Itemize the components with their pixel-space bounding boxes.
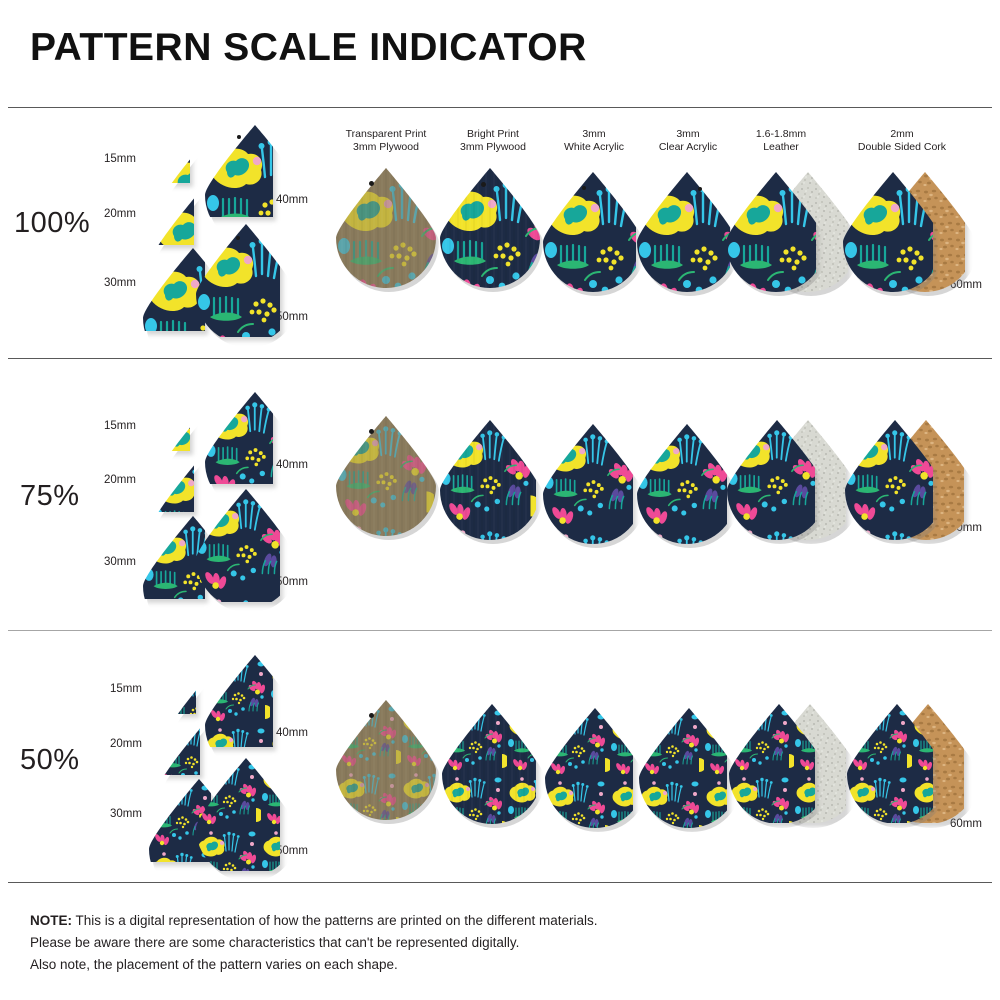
size-label-20mm-50: 20mm: [110, 738, 142, 750]
hole-icon: [582, 186, 586, 190]
page-title: PATTERN SCALE INDICATOR: [30, 28, 587, 67]
material-sample-cork-50: [847, 704, 933, 823]
material-sample-leather-75: [727, 420, 815, 541]
scale-label-50: 50%: [20, 744, 80, 777]
size-label-40mm-50: 40mm: [276, 727, 308, 739]
column-header-line2: Leather: [711, 141, 851, 154]
hole-icon: [369, 713, 374, 718]
material-sample-clear-acrylic-75: [637, 424, 727, 548]
column-header-double-sided-cork: 2mm Double Sided Cork: [832, 128, 972, 154]
hole-icon: [481, 182, 486, 187]
size-label-15mm-75: 15mm: [104, 420, 136, 432]
hole-icon: [237, 135, 241, 139]
hole-icon: [369, 429, 374, 434]
footer-note-line-3: Also note, the placement of the pattern …: [30, 954, 598, 976]
material-sample-transparent-print-plywood-100: [336, 168, 436, 304]
teardrop-20mm-100: [152, 189, 194, 245]
teardrop-15mm-50: [163, 670, 196, 714]
teardrop-50mm-75: [196, 489, 280, 602]
footer-note-line1-text: This is a digital representation of how …: [72, 913, 598, 928]
size-label-20mm-75: 20mm: [104, 474, 136, 486]
size-label-15mm-50: 15mm: [110, 683, 142, 695]
footer-note: NOTE: This is a digital representation o…: [30, 910, 598, 976]
size-label-30mm-50: 30mm: [110, 808, 142, 820]
teardrop-40mm-75: [205, 392, 273, 484]
material-sample-white-acrylic-50: [545, 708, 633, 829]
material-sample-white-acrylic-75: [543, 424, 633, 548]
size-label-15mm-100: 15mm: [104, 153, 136, 165]
teardrop-50mm-100: [196, 224, 280, 337]
teardrop-20mm-75: [152, 456, 194, 512]
size-label-20mm-100: 20mm: [104, 208, 136, 220]
teardrop-50mm-50: [196, 758, 280, 871]
footer-note-label: NOTE:: [30, 913, 72, 928]
size-label-30mm-100: 30mm: [104, 277, 136, 289]
material-sample-white-acrylic-100: [543, 172, 636, 300]
footer-note-line-2: Please be aware there are some character…: [30, 932, 598, 954]
hole-icon: [236, 236, 240, 240]
teardrop-15mm-75: [157, 407, 190, 451]
material-sample-cork-100: [843, 172, 933, 296]
hole-icon: [698, 187, 702, 191]
material-sample-bright-print-plywood-50: [442, 704, 536, 832]
divider-section-2: [8, 630, 992, 631]
teardrop-40mm-50: [205, 655, 273, 747]
material-sample-leather-50: [729, 704, 815, 823]
material-sample-leather-100: [726, 172, 816, 296]
material-sample-bright-print-plywood-100: [440, 168, 540, 304]
column-header-line1: 1.6-1.8mm: [711, 128, 851, 141]
material-sample-bright-print-plywood-75: [440, 420, 536, 550]
divider-top: [8, 107, 992, 108]
teardrop-40mm-100: [205, 125, 273, 217]
size-label-40mm-100: 40mm: [276, 194, 308, 206]
teardrop-20mm-50: [158, 719, 200, 775]
column-header-leather: 1.6-1.8mm Leather: [711, 128, 851, 154]
size-label-40mm-75: 40mm: [276, 459, 308, 471]
material-sample-cork-75: [845, 420, 933, 541]
footer-note-line-1: NOTE: This is a digital representation o…: [30, 910, 598, 932]
material-sample-transparent-print-plywood-50: [336, 700, 436, 836]
column-header-line1: 2mm: [832, 128, 972, 141]
size-label-30mm-75: 30mm: [104, 556, 136, 568]
hole-icon: [369, 181, 374, 186]
scale-label-75: 75%: [20, 480, 80, 513]
pattern-scale-indicator-page: PATTERN SCALE INDICATOR Transparent Prin…: [0, 0, 1000, 1000]
divider-section-1: [8, 358, 992, 359]
material-sample-transparent-print-plywood-75: [336, 416, 436, 552]
material-sample-clear-acrylic-50: [639, 708, 727, 829]
teardrop-15mm-100: [157, 139, 190, 183]
material-sample-clear-acrylic-100: [637, 172, 730, 300]
divider-section-3: [8, 882, 992, 883]
column-header-line2: Double Sided Cork: [832, 141, 972, 154]
scale-label-100: 100%: [14, 207, 90, 240]
